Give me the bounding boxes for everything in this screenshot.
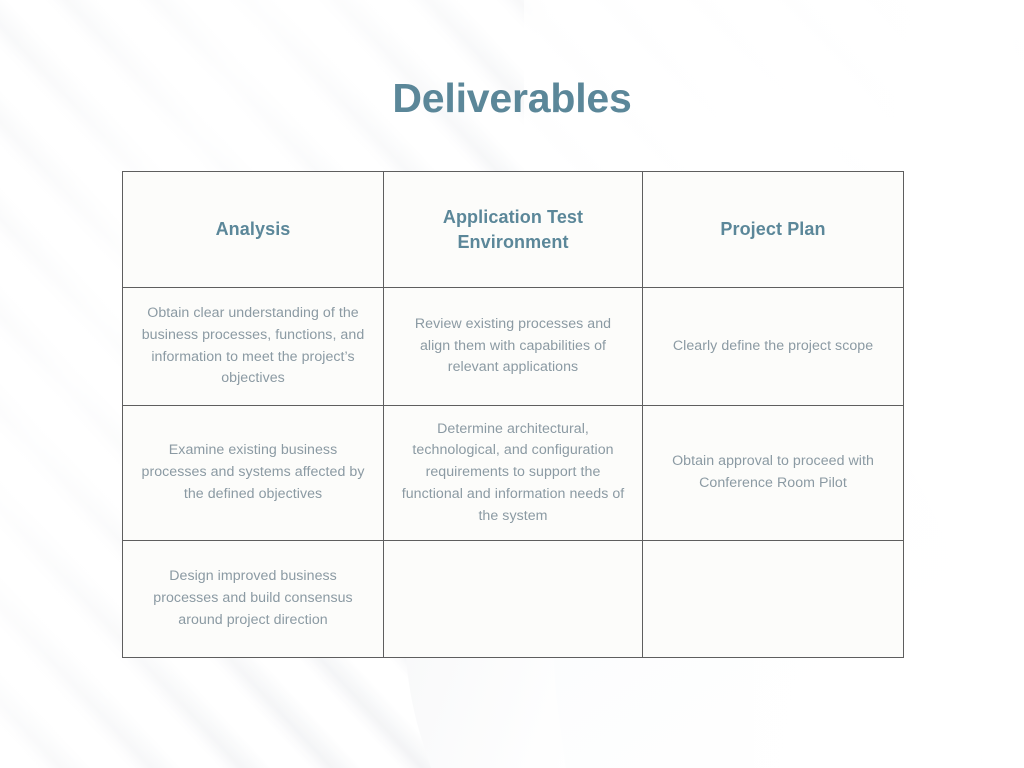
deliverables-table: Analysis Application Test Environment Pr… — [122, 171, 904, 658]
page-title: Deliverables — [0, 76, 1024, 121]
table-header-row: Analysis Application Test Environment Pr… — [123, 172, 904, 288]
table-row: Design improved business processes and b… — [123, 541, 904, 658]
column-header-analysis: Analysis — [123, 172, 384, 288]
cell-application-test-environment-1: Review existing processes and align them… — [384, 288, 643, 406]
cell-analysis-1: Obtain clear understanding of the busine… — [123, 288, 384, 406]
cell-project-plan-1: Clearly define the project scope — [643, 288, 904, 406]
table-row: Obtain clear understanding of the busine… — [123, 288, 904, 406]
slide-content: Deliverables Analysis Application Test E… — [0, 0, 1024, 768]
cell-project-plan-3 — [643, 541, 904, 658]
column-header-application-test-environment: Application Test Environment — [384, 172, 643, 288]
cell-application-test-environment-2: Determine architectural, technological, … — [384, 406, 643, 541]
cell-analysis-2: Examine existing business processes and … — [123, 406, 384, 541]
table-row: Examine existing business processes and … — [123, 406, 904, 541]
cell-project-plan-2: Obtain approval to proceed with Conferen… — [643, 406, 904, 541]
column-header-project-plan: Project Plan — [643, 172, 904, 288]
cell-analysis-3: Design improved business processes and b… — [123, 541, 384, 658]
cell-application-test-environment-3 — [384, 541, 643, 658]
